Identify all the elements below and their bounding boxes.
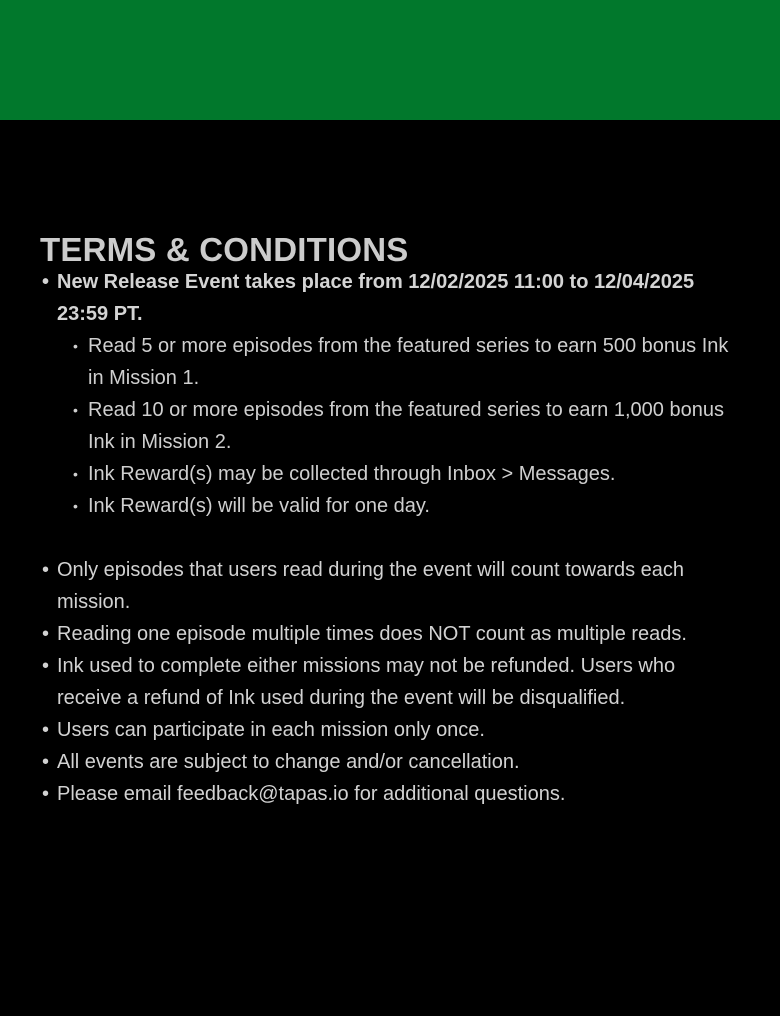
list-item-text: Users can participate in each mission on… <box>57 719 485 741</box>
mission-details-sublist: • Read 5 or more episodes from the featu… <box>40 330 740 522</box>
bullet-dot-icon: • <box>42 650 49 682</box>
sub-bullet-dot-icon: • <box>73 394 78 426</box>
list-item-contact-email: • Please email feedback@tapas.io for add… <box>40 778 740 810</box>
list-item-text: New Release Event takes place from 12/02… <box>57 271 694 325</box>
bullet-dot-icon: • <box>42 746 49 778</box>
list-item-mission-2: • Read 10 or more episodes from the feat… <box>72 394 740 458</box>
list-item-mission-1: • Read 5 or more episodes from the featu… <box>72 330 740 394</box>
bullet-dot-icon: • <box>42 714 49 746</box>
terms-and-conditions-page: TERMS & CONDITIONS • New Release Event t… <box>0 0 780 1016</box>
list-item-text: Please email feedback@tapas.io for addit… <box>57 783 565 805</box>
list-item-text: All events are subject to change and/or … <box>57 751 520 773</box>
list-item-event-dates: • New Release Event takes place from 12/… <box>40 266 740 330</box>
primary-terms-list: • New Release Event takes place from 12/… <box>40 266 740 330</box>
list-item-text: Ink used to complete either missions may… <box>57 655 675 709</box>
bullet-dot-icon: • <box>42 618 49 650</box>
list-item-text: Read 10 or more episodes from the featur… <box>88 399 724 453</box>
page-title: TERMS & CONDITIONS <box>40 120 740 266</box>
list-item-text: Read 5 or more episodes from the feature… <box>88 335 728 389</box>
sub-bullet-dot-icon: • <box>73 490 78 522</box>
green-header-banner <box>0 0 780 120</box>
list-item-event-reads-count: • Only episodes that users read during t… <box>40 554 740 618</box>
section-spacer <box>40 522 740 554</box>
bullet-dot-icon: • <box>42 266 49 298</box>
sub-bullet-dot-icon: • <box>73 458 78 490</box>
bullet-dot-icon: • <box>42 554 49 586</box>
list-item-text: Ink Reward(s) may be collected through I… <box>88 463 615 485</box>
sub-bullet-dot-icon: • <box>73 330 78 362</box>
list-item-text: Reading one episode multiple times does … <box>57 623 687 645</box>
list-item-text: Only episodes that users read during the… <box>57 559 684 613</box>
terms-content-area: TERMS & CONDITIONS • New Release Event t… <box>0 120 780 810</box>
list-item-text: Ink Reward(s) will be valid for one day. <box>88 495 430 517</box>
secondary-terms-list: • Only episodes that users read during t… <box>40 554 740 810</box>
list-item-ink-collection: • Ink Reward(s) may be collected through… <box>72 458 740 490</box>
bullet-dot-icon: • <box>42 778 49 810</box>
list-item-ink-validity: • Ink Reward(s) will be valid for one da… <box>72 490 740 522</box>
list-item-no-refunds: • Ink used to complete either missions m… <box>40 650 740 714</box>
list-item-no-rereads: • Reading one episode multiple times doe… <box>40 618 740 650</box>
list-item-subject-to-change: • All events are subject to change and/o… <box>40 746 740 778</box>
list-item-one-participation: • Users can participate in each mission … <box>40 714 740 746</box>
